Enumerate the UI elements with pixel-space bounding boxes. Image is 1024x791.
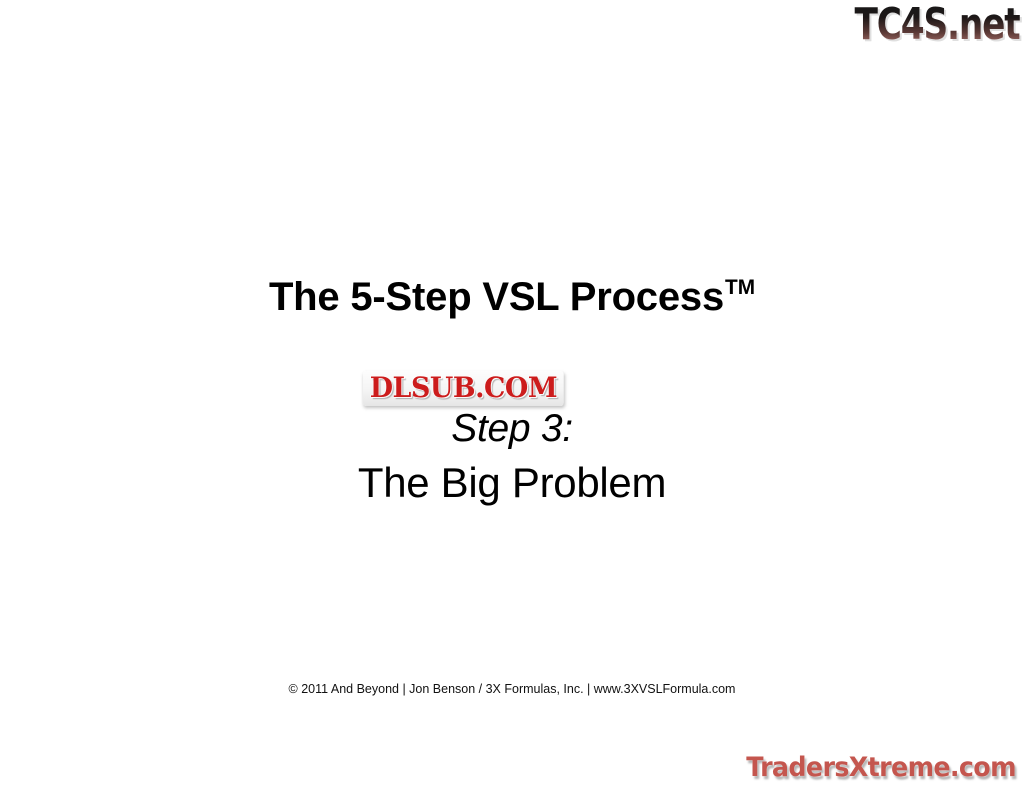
watermark-dlsub-com: DLSUB.COM [363,371,564,406]
slide-title: The 5-Step VSL ProcessTM [0,276,1024,318]
slide-subtitle-headline: The Big Problem [0,458,1024,508]
slide-subtitle-block: Step 3: The Big Problem [0,406,1024,508]
watermark-tc4s-net: TC4S.net [855,1,1020,49]
trademark-symbol: TM [725,276,755,299]
slide-footer-copyright: © 2011 And Beyond | Jon Benson / 3X Form… [0,682,1024,696]
slide-title-text: The 5-Step VSL Process [269,275,724,319]
presentation-slide: TC4S.net TC4S.net The 5-Step VSL Process… [0,0,1024,791]
slide-subtitle-step: Step 3: [0,406,1024,452]
watermark-tradersxtreme-com: TradersXtreme.com [746,753,1016,783]
